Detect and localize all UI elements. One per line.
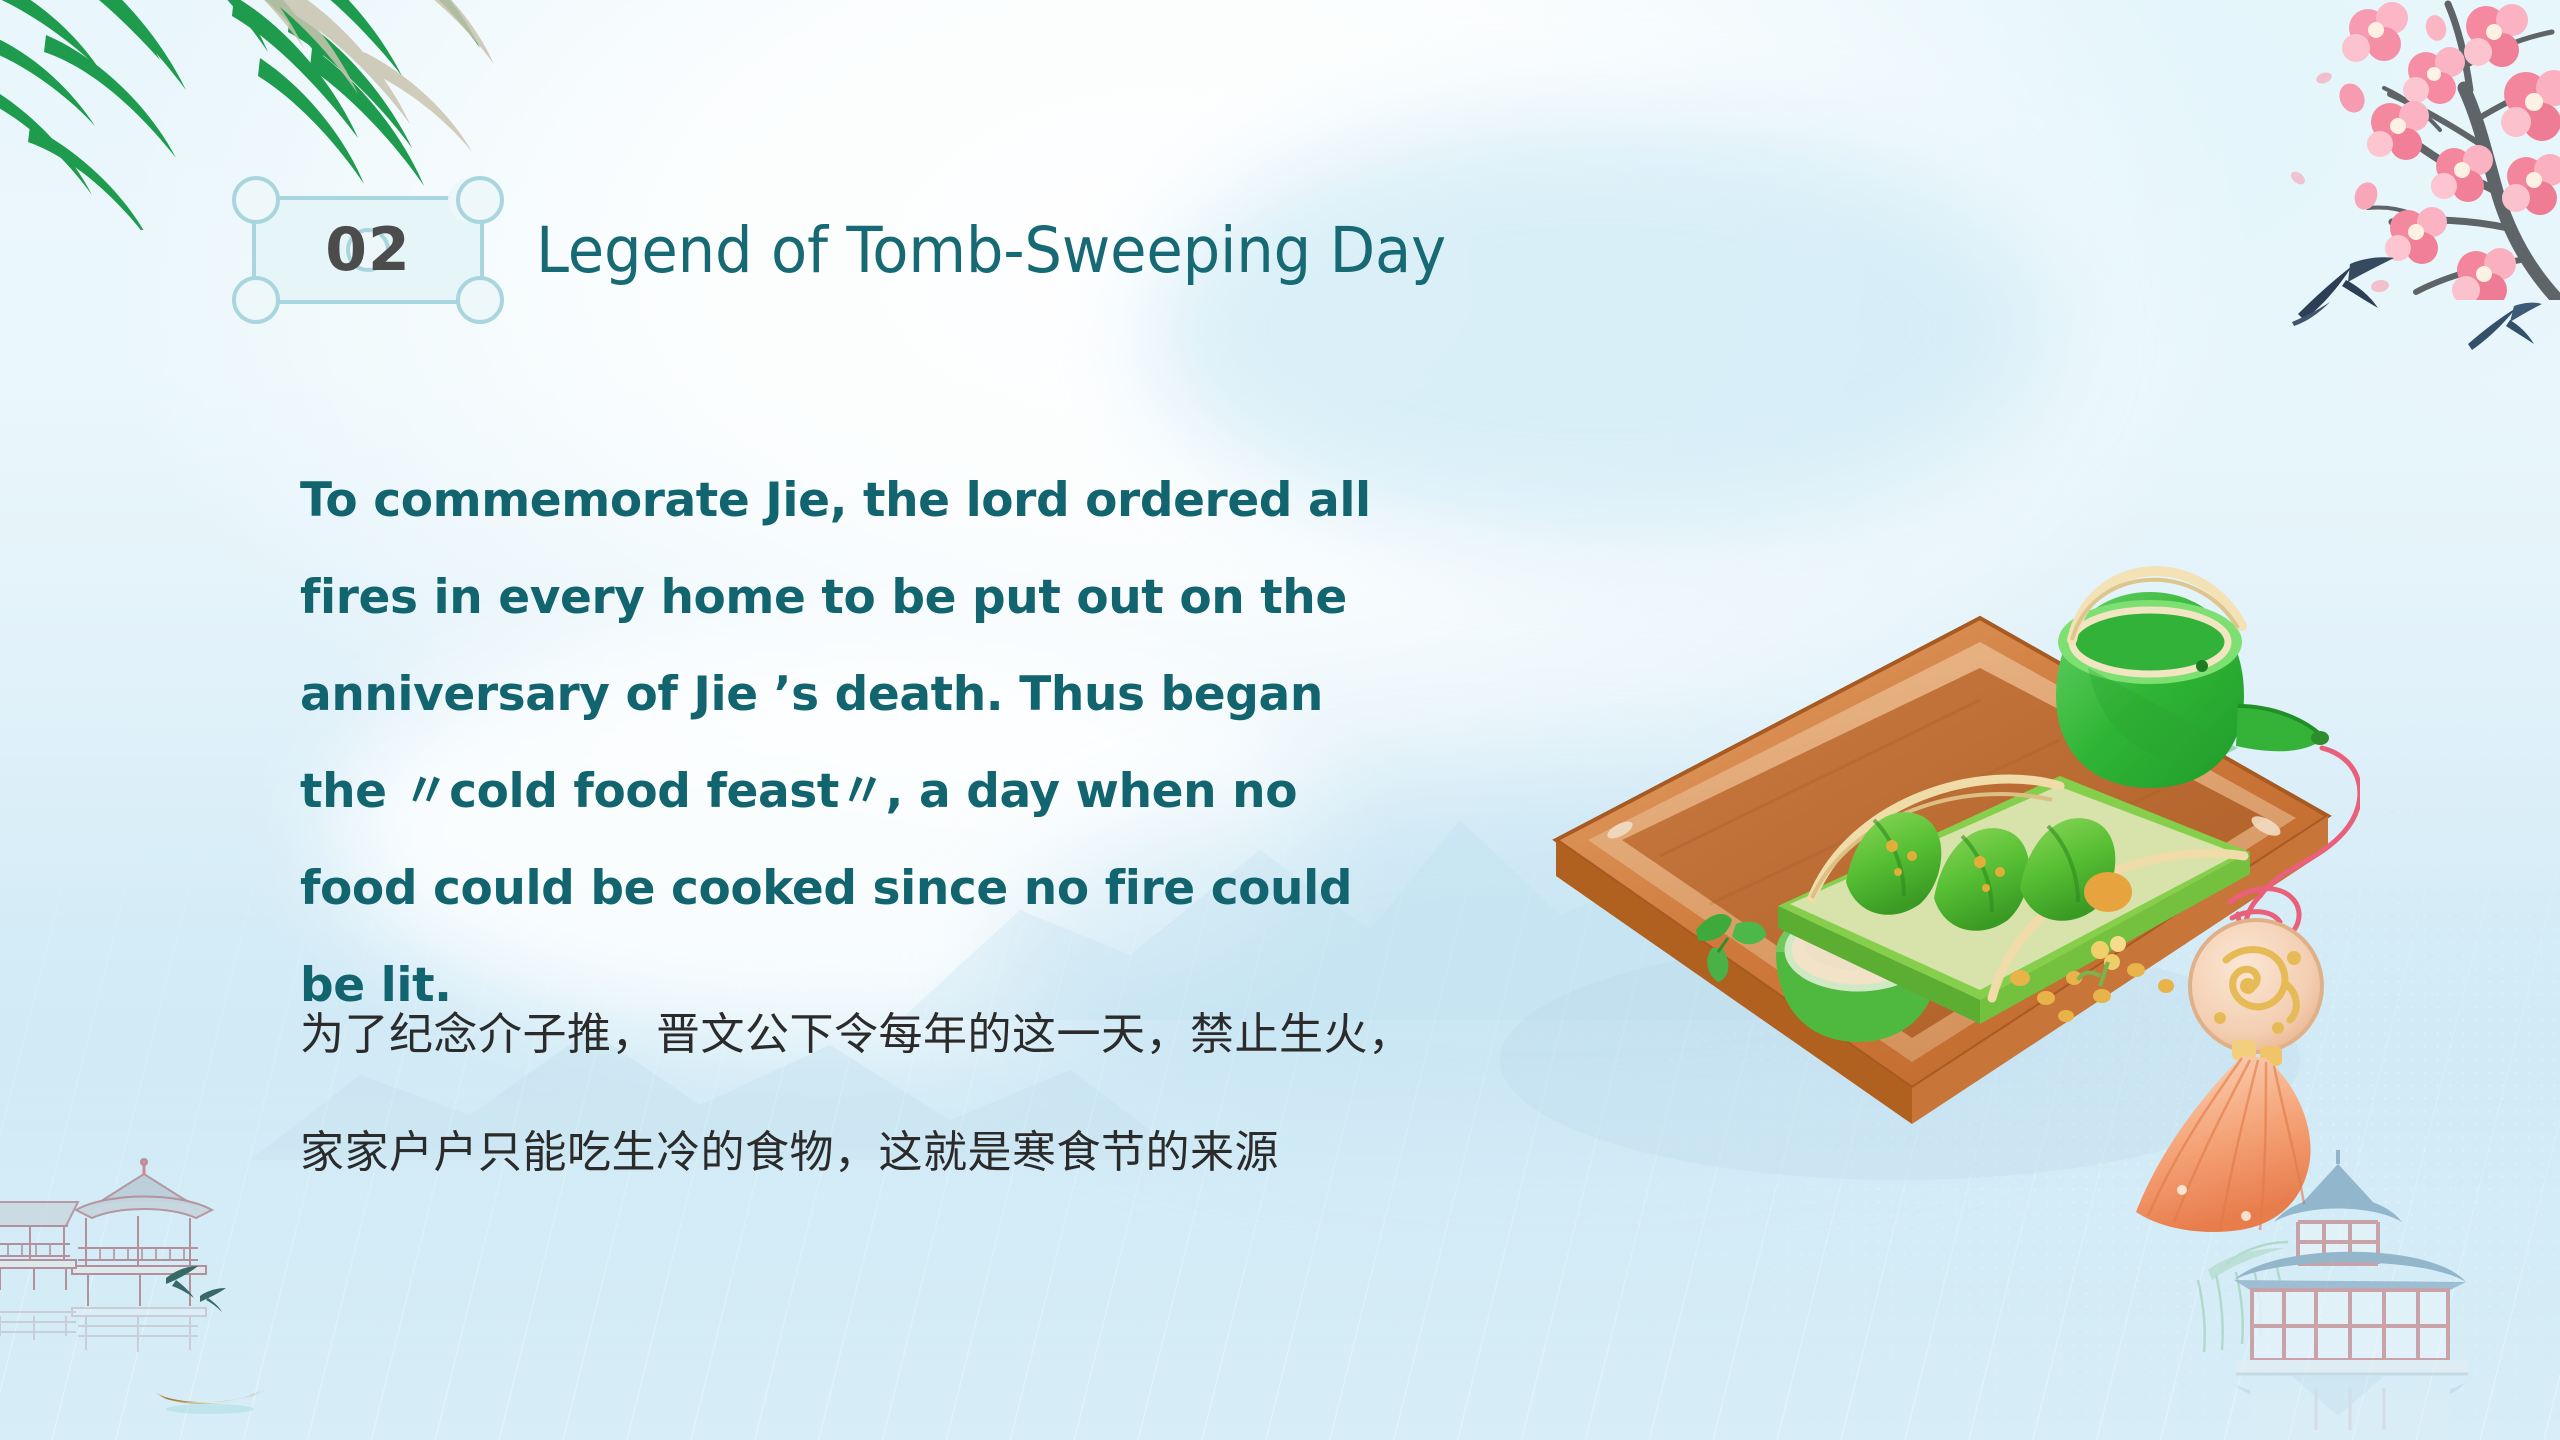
english-line: fires in every home to be put out on the <box>300 549 1480 646</box>
english-line: anniversary of Jie ’s death. Thus began <box>300 646 1480 743</box>
chinese-pagoda-illustration <box>2180 1130 2560 1440</box>
page-title: Legend of Tomb-Sweeping Day <box>536 214 1446 287</box>
chinese-line: 为了纪念介子推，晋文公下令每年的这一天，禁止生火， <box>300 976 1560 1094</box>
wooden-boat-illustration <box>150 1375 270 1415</box>
swallow-bird-icon-second <box>2464 286 2544 356</box>
badge-corner-top-left <box>232 176 280 224</box>
chinese-line: 家家户户只能吃生冷的食物，这就是寒食节的来源 <box>300 1094 1560 1212</box>
section-number-text: 02 <box>325 215 411 285</box>
green-teapot-illustration <box>2056 571 2329 788</box>
badge-corner-bottom-right <box>456 276 504 324</box>
english-line: the 〃cold food feast〃, a day when no <box>300 743 1480 840</box>
chinese-paragraph: 为了纪念介子推，晋文公下令每年的这一天，禁止生火， 家家户户只能吃生冷的食物，这… <box>300 976 1560 1212</box>
swallow-bird-icon <box>2290 236 2400 326</box>
english-paragraph: To commemorate Jie, the lord ordered all… <box>300 452 1480 1034</box>
slide-canvas: 02 Legend of Tomb-Sweeping Day To commem… <box>0 0 2560 1440</box>
section-number-badge: 02 <box>252 196 484 304</box>
badge-corner-top-right <box>456 176 504 224</box>
english-line: food could be cooked since no fire could <box>300 840 1480 937</box>
cherry-blossom-branch-decoration <box>2240 0 2560 300</box>
badge-corner-bottom-left <box>232 276 280 324</box>
jade-medallion-with-tassel <box>2190 920 2322 1052</box>
english-line: To commemorate Jie, the lord ordered all <box>300 452 1480 549</box>
section-header: 02 Legend of Tomb-Sweeping Day <box>252 196 1504 304</box>
